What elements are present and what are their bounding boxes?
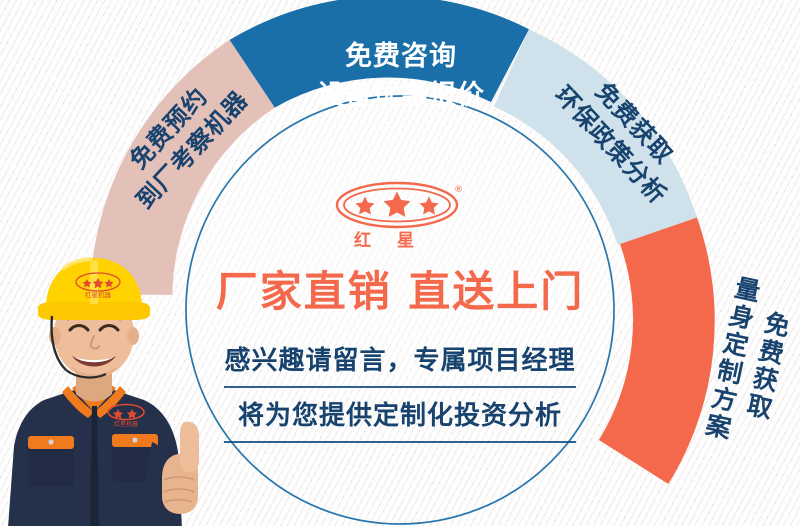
subtitle-divider-2 xyxy=(224,441,576,443)
logo-name-cn: 红星 xyxy=(354,230,440,251)
banner-root: 免费预约 到厂考察机器 免费咨询 设备优惠报价 免费获取 环保政策分析 免费获取… xyxy=(0,0,800,526)
subtitle-block: 感兴趣请留言，专属项目经理 将为您提供定制化投资分析 xyxy=(224,333,576,443)
svg-text:红星机器: 红星机器 xyxy=(114,420,138,428)
subtitle-line-1: 感兴趣请留言，专属项目经理 xyxy=(224,333,575,386)
headline: 厂家直销 直送上门 xyxy=(216,258,585,319)
center-content: ® 红星 厂家直销 直送上门 感兴趣请留言，专属项目经理 将为您提供定制化投资分… xyxy=(175,178,625,448)
subtitle-line-2: 将为您提供定制化投资分析 xyxy=(238,388,562,441)
ring-segment-blue[interactable] xyxy=(230,0,529,108)
svg-text:红星机器: 红星机器 xyxy=(85,290,112,299)
logo-registered-mark: ® xyxy=(454,185,463,195)
worker-photo: 红星机器 xyxy=(2,246,216,526)
brand-logo: ® 红星 xyxy=(334,178,466,252)
logo-stars xyxy=(356,192,439,217)
subtitle-divider-1 xyxy=(224,386,576,388)
